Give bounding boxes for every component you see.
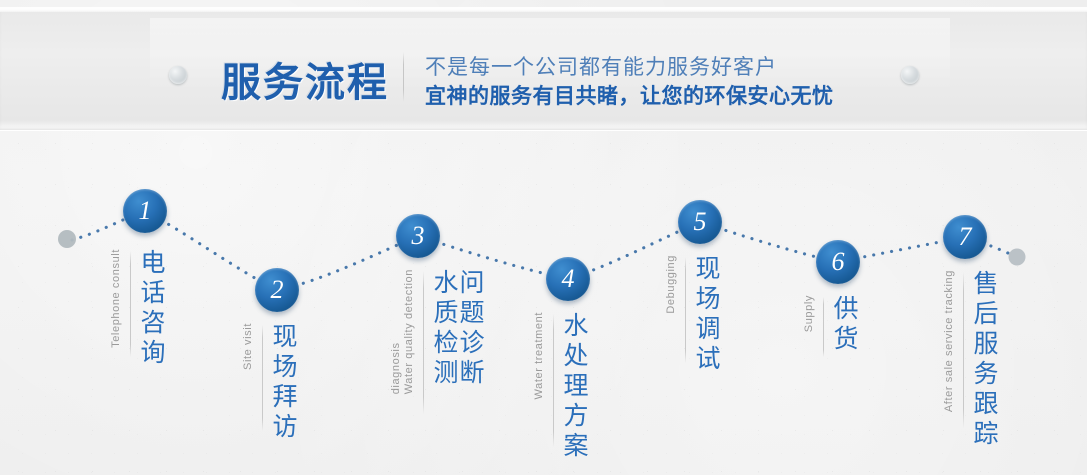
step-6-labels: Supply 供货 [803,295,857,357]
step-3-divider [423,271,424,414]
step-2-en-group: Site visit [242,323,255,370]
decorative-dot-left [169,66,187,84]
step-3-en-line-2: diagnosis [390,269,403,394]
step-5-en-line-1: Debugging [665,255,678,314]
step-7-labels: After sale service tracking 售后服务跟踪 [943,270,997,428]
step-4-badge: 4 [546,257,590,301]
step-3-en-line-1: Water quality detection [403,269,416,394]
step-4-divider [553,314,554,447]
step-4-en-line-1: Water treatment [533,312,546,399]
step-1-labels: Telephone consult 电话咨询 [110,249,164,357]
step-1-badge: 1 [123,189,167,233]
step-7-cn-col-1: 售后服务跟踪 [971,270,997,450]
step-5-en-group: Debugging [665,255,678,314]
step-5-badge: 5 [678,200,722,244]
step-5-divider [685,257,686,363]
step-3-cn-col-2: 水质检测 [431,269,457,389]
step-3-en-group: diagnosis Water quality detection [390,269,416,394]
step-1-cn-col-1: 电话咨询 [138,249,164,369]
step-6-divider [823,297,824,357]
step-3-badge: 3 [396,214,440,258]
title-divider [403,52,404,102]
step-2-labels: Site visit 现场拜访 [242,323,296,431]
step-4-en-group: Water treatment [533,312,546,399]
step-6-en-line-1: Supply [803,295,816,332]
step-7-divider [963,272,964,428]
step-5-labels: Debugging 现场调试 [665,255,719,363]
step-7-badge: 7 [943,215,987,259]
step-6-cn-col-1: 供货 [831,295,857,355]
page-title: 服务流程 [221,50,389,108]
step-4-labels: Water treatment 水处理方案 [533,312,587,447]
step-1-en-group: Telephone consult [110,249,123,348]
step-7-en-line-1: After sale service tracking [943,270,956,412]
step-5-cn-col-1: 现场调试 [693,255,719,375]
step-7-en-group: After sale service tracking [943,270,956,412]
step-1-divider [130,251,131,357]
path-endpoint-right [1009,249,1026,266]
step-2-cn-col-1: 现场拜访 [270,323,296,443]
subtitle-line-1: 不是每一个公司都有能力服务好客户 [425,54,834,82]
subtitle-line-2: 宜神的服务有目共睹，让您的环保安心无忧 [425,82,834,112]
step-2-divider [262,325,263,431]
step-2-en-line-1: Site visit [242,323,255,370]
flow-dotted-line [72,211,1015,290]
step-6-badge: 6 [816,240,860,284]
decorative-dot-right [901,66,919,84]
step-3-cn-col-1: 问题诊断 [457,269,483,389]
step-3-labels: diagnosis Water quality detection 水质检测 问… [390,269,483,414]
step-1-en-line-1: Telephone consult [110,249,123,348]
step-6-en-group: Supply [803,295,816,332]
step-2-badge: 2 [255,268,299,312]
service-process-banner: 服务流程 不是每一个公司都有能力服务好客户 宜神的服务有目共睹，让您的环保安心无… [0,0,1087,475]
subtitle-block: 不是每一个公司都有能力服务好客户 宜神的服务有目共睹，让您的环保安心无忧 [425,54,834,112]
path-endpoint-left [58,230,76,248]
step-4-cn-col-1: 水处理方案 [561,312,587,462]
